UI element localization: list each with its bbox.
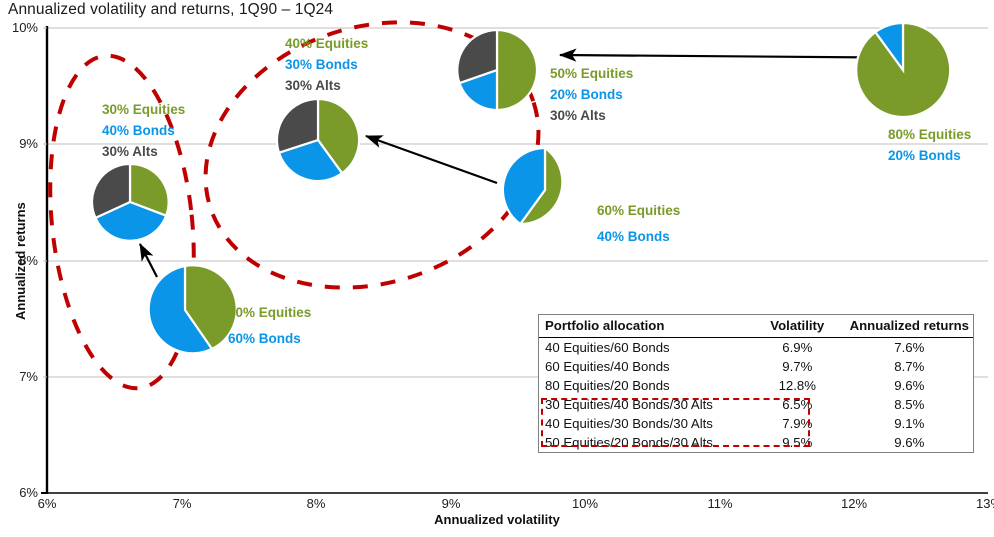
x-tick-7: 7% xyxy=(152,496,212,511)
y-tick-7: 7% xyxy=(0,369,38,384)
label-alts: 30% Alts xyxy=(285,75,368,96)
label-bonds: 60% Bonds xyxy=(228,326,311,352)
label-equities: 50% Equities xyxy=(550,63,633,84)
pie-60-40 xyxy=(503,148,562,224)
label-bonds: 40% Bonds xyxy=(597,224,680,250)
label-bonds: 20% Bonds xyxy=(550,84,633,105)
table-row: 30 Equities/40 Bonds/30 Alts 6.5% 8.5% xyxy=(539,395,973,414)
x-tick-11: 11% xyxy=(690,496,750,511)
cell-returns: 9.6% xyxy=(844,433,973,452)
cell-volatility: 6.5% xyxy=(749,395,844,414)
x-tick-13: 13% xyxy=(959,496,994,511)
pie-label-30-40-30: 30% Equities 40% Bonds 30% Alts xyxy=(102,99,185,162)
label-alts: 30% Alts xyxy=(102,141,185,162)
pie-80-20 xyxy=(856,23,950,117)
pie-label-60-40: 60% Equities 40% Bonds xyxy=(597,198,680,250)
cell-volatility: 7.9% xyxy=(749,414,844,433)
label-equities: 40% Equities xyxy=(285,33,368,54)
pie-40-60 xyxy=(149,265,237,353)
x-tick-10: 10% xyxy=(555,496,615,511)
cell-returns: 8.7% xyxy=(844,357,973,376)
table-row: 40 Equities/30 Bonds/30 Alts 7.9% 9.1% xyxy=(539,414,973,433)
table-row: 80 Equities/20 Bonds 12.8% 9.6% xyxy=(539,376,973,395)
chart-root: Annualized volatility and returns, 1Q90 … xyxy=(0,0,994,537)
th-annualized-returns: Annualized returns xyxy=(844,315,973,338)
cell-returns: 9.1% xyxy=(844,414,973,433)
pie-50-20-30 xyxy=(457,30,537,110)
label-equities: 30% Equities xyxy=(102,99,185,120)
label-bonds: 40% Bonds xyxy=(102,120,185,141)
cell-volatility: 12.8% xyxy=(749,376,844,395)
cell-allocation: 60 Equities/40 Bonds xyxy=(539,357,749,376)
th-portfolio-allocation: Portfolio allocation xyxy=(539,315,749,338)
cell-volatility: 9.5% xyxy=(749,433,844,452)
x-tick-8: 8% xyxy=(286,496,346,511)
cell-allocation: 50 Equities/20 Bonds/30 Alts xyxy=(539,433,749,452)
cell-volatility: 6.9% xyxy=(749,338,844,358)
label-equities: 40% Equities xyxy=(228,300,311,326)
label-equities: 60% Equities xyxy=(597,198,680,224)
x-tick-9: 9% xyxy=(421,496,481,511)
cell-allocation: 80 Equities/20 Bonds xyxy=(539,376,749,395)
cell-allocation: 40 Equities/30 Bonds/30 Alts xyxy=(539,414,749,433)
cell-allocation: 30 Equities/40 Bonds/30 Alts xyxy=(539,395,749,414)
label-equities: 80% Equities xyxy=(888,124,971,145)
cell-allocation: 40 Equities/60 Bonds xyxy=(539,338,749,358)
table-row: 60 Equities/40 Bonds 9.7% 8.7% xyxy=(539,357,973,376)
pie-label-50-20-30: 50% Equities 20% Bonds 30% Alts xyxy=(550,63,633,126)
th-volatility: Volatility xyxy=(749,315,844,338)
x-axis-title: Annualized volatility xyxy=(0,512,994,527)
cell-returns: 9.6% xyxy=(844,376,973,395)
table-header-row: Portfolio allocation Volatility Annualiz… xyxy=(539,315,973,338)
table-row: 40 Equities/60 Bonds 6.9% 7.6% xyxy=(539,338,973,358)
label-bonds: 20% Bonds xyxy=(888,145,971,166)
y-tick-9: 9% xyxy=(0,136,38,151)
pie-label-80-20: 80% Equities 20% Bonds xyxy=(888,124,971,166)
label-bonds: 30% Bonds xyxy=(285,54,368,75)
pie-label-40-60: 40% Equities 60% Bonds xyxy=(228,300,311,352)
pie-30-40-30 xyxy=(92,164,169,241)
y-tick-10: 10% xyxy=(0,20,38,35)
cell-volatility: 9.7% xyxy=(749,357,844,376)
pie-label-40-30-30: 40% Equities 30% Bonds 30% Alts xyxy=(285,33,368,96)
x-tick-12: 12% xyxy=(824,496,884,511)
x-tick-6: 6% xyxy=(17,496,77,511)
y-axis-title: Annualized returns xyxy=(13,202,28,320)
pie-40-30-30 xyxy=(277,99,359,181)
label-alts: 30% Alts xyxy=(550,105,633,126)
cell-returns: 8.5% xyxy=(844,395,973,414)
allocation-table: Portfolio allocation Volatility Annualiz… xyxy=(538,314,974,453)
cell-returns: 7.6% xyxy=(844,338,973,358)
table-row: 50 Equities/20 Bonds/30 Alts 9.5% 9.6% xyxy=(539,433,973,452)
pie-markers xyxy=(0,0,994,537)
